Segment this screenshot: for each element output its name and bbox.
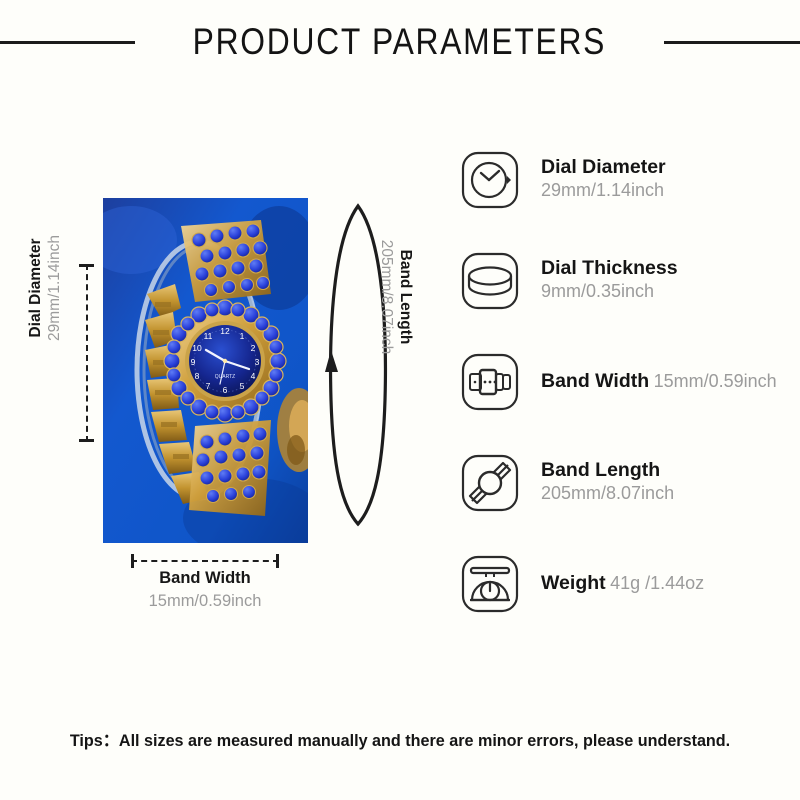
tips-note: Tips：All sizes are measured manually and… [20,726,780,751]
dial-diameter-annotation-label: Dial Diameter [27,202,46,374]
band-width-annotation: Band Width 15mm/0.59inch [85,568,325,613]
spec-value: 15mm/0.59inch [654,371,777,391]
svg-text:5: 5 [240,381,245,391]
spec-row-dial-diameter: Dial Diameter 29mm/1.14inch [459,148,789,212]
page-title: PRODUCT PARAMETERS [192,21,605,63]
svg-text:12: 12 [220,326,230,336]
svg-text:QUARTZ: QUARTZ [215,374,235,380]
svg-text:6: 6 [223,385,228,395]
svg-text:7: 7 [206,381,211,391]
spec-value: 205mm/8.07inch [541,483,674,503]
title-rule-left [0,41,135,44]
title-rule-right [664,41,800,44]
svg-text:3: 3 [255,357,260,367]
svg-text:1: 1 [240,331,245,341]
dimension-cap-bottom [79,439,94,442]
spec-row-band-length: Band Length 205mm/8.07inch [459,451,789,515]
band-length-annotation: Band Length 205mm/8.07inch [372,192,414,402]
buckle-clasp-icon [459,351,521,413]
spec-label: Band Width [541,370,649,392]
spec-value: 29mm/1.14inch [541,180,664,200]
svg-text:11: 11 [204,331,213,341]
band-length-annotation-label: Band Length [395,192,414,402]
svg-text:9: 9 [191,357,196,367]
spec-label: Dial Thickness [541,257,678,279]
dimension-cap-right [276,554,279,568]
spec-row-weight: Weight 41g /1.44oz [459,552,789,616]
spec-value: 9mm/0.35inch [541,281,654,301]
dial-diameter-dimension-line [78,264,96,442]
spec-label: Weight [541,572,606,594]
spec-value: 41g /1.44oz [610,573,704,593]
band-width-dimension-line [131,554,279,568]
spec-text: Weight 41g /1.44oz [541,572,704,597]
band-width-annotation-value: 15mm/0.59inch [85,591,325,612]
svg-text:4: 4 [251,371,256,381]
page-title-bar: PRODUCT PARAMETERS [0,18,800,66]
spec-text: Dial Diameter 29mm/1.14inch [541,156,789,204]
spec-row-dial-thickness: Dial Thickness 9mm/0.35inch [459,249,789,313]
dimension-dashed-line [86,264,88,442]
svg-text:10: 10 [192,343,202,353]
spec-text: Band Width 15mm/0.59inch [541,370,777,395]
product-photo: 12 1 2 3 4 5 6 7 8 9 10 11 QUARTZ [103,198,308,543]
svg-text:2: 2 [251,343,256,353]
dimension-dashed-line [131,560,279,562]
band-width-annotation-label: Band Width [85,568,325,589]
dial-diameter-annotation-value: 29mm/1.14inch [46,202,65,374]
spec-list: Dial Diameter 29mm/1.14inch Dial Thickne… [459,148,789,653]
spec-text: Dial Thickness 9mm/0.35inch [541,257,789,305]
dial-diameter-annotation: Dial Diameter 29mm/1.14inch [27,202,67,374]
spec-label: Dial Diameter [541,156,666,178]
band-length-annotation-value: 205mm/8.07inch [377,192,396,402]
kitchen-scale-icon [459,553,521,615]
watch-dial-icon [459,149,521,211]
watch-strap-icon [459,452,521,514]
disc-thickness-icon [459,250,521,312]
svg-text:8: 8 [195,371,200,381]
spec-text: Band Length 205mm/8.07inch [541,459,789,507]
spec-row-band-width: Band Width 15mm/0.59inch [459,350,789,414]
spec-label: Band Length [541,459,660,481]
